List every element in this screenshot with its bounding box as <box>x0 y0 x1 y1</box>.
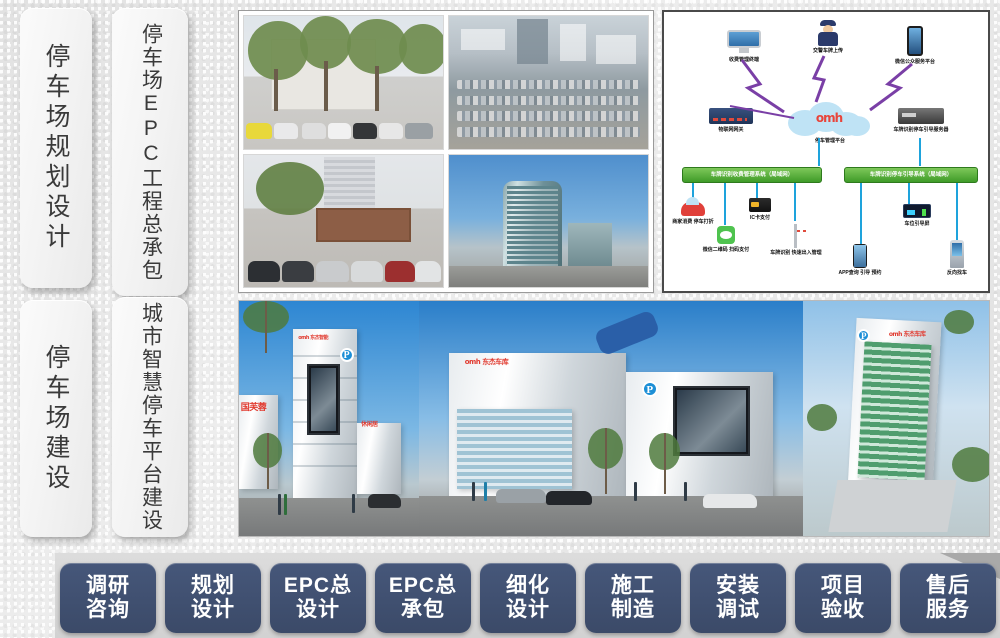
billboard <box>673 386 750 457</box>
process-step-epc-general-contracting[interactable]: EPC总 承包 <box>375 563 471 633</box>
sidebar-card-label: 停车场EPC工程总承包 <box>137 17 164 288</box>
lifted-car-icon <box>593 309 660 356</box>
system-bar-plate-recognition-guidance: 车牌识别停车引导系统（局域网） <box>844 167 978 183</box>
connector-line <box>794 183 796 221</box>
device-reverse-car-finding: 反向找车 <box>934 240 980 276</box>
ic-card-icon <box>749 198 771 212</box>
sidebar-card-parking-planning-design[interactable]: 停车场规划设计 <box>20 8 92 288</box>
barrier-gate-icon <box>785 222 807 248</box>
billboard <box>307 364 339 435</box>
device-app-query-guidance: APP查询 引导 预约 <box>838 244 882 276</box>
sidebar: 停车场规划设计 停车场EPC工程总承包 停车场建设 城市智慧停车平台建设 <box>0 0 228 560</box>
device-wechat-qr-payment: 微信二维码 扫码支付 <box>700 226 752 253</box>
process-step-after-sales-service[interactable]: 售后 服务 <box>900 563 996 633</box>
parking-system-architecture-diagram: omh 停车管理平台 收费管理终端 交警车牌上传 微信公众服务平台 物联网网关 <box>662 10 990 293</box>
process-step-bar: 调研 咨询 规划 设计 EPC总 设计 EPC总 承包 细化 设计 施工 制造 … <box>60 560 996 636</box>
parking-badge-icon: P <box>642 381 658 397</box>
guidance-screen-icon <box>903 204 931 218</box>
photo-parking-lot-brick-building <box>243 154 444 289</box>
architectural-render-panel: omh 东杰智能 P 国芙蓉 休闲居 omh 东杰车库 P <box>238 300 990 537</box>
mobile-app-icon <box>853 244 867 268</box>
device-label: 车位引导屏 <box>894 221 940 227</box>
top-content-row: omh 停车管理平台 收费管理终端 交警车牌上传 微信公众服务平台 物联网网关 <box>238 10 990 293</box>
red-car-icon <box>681 202 705 216</box>
device-ic-card-payment: IC卡支付 <box>736 198 784 221</box>
sidebar-card-label: 停车场建设 <box>40 338 72 500</box>
photo-glass-office-tower <box>448 154 649 289</box>
render-logo: omh 东杰车库 <box>465 357 509 367</box>
device-parking-guidance-screen: 车位引导屏 <box>894 204 940 227</box>
connector-line <box>860 183 862 245</box>
process-step-construction-manufacturing[interactable]: 施工 制造 <box>585 563 681 633</box>
render-logo: omh 东杰车库 <box>889 329 926 338</box>
connector-line <box>724 183 726 225</box>
device-label: 商家消费 停车打折 <box>670 219 716 225</box>
device-label: 反向找车 <box>934 270 980 276</box>
device-label: IC卡支付 <box>736 215 784 221</box>
device-plate-recognition-gate: 车牌识别 快速出入管理 <box>770 222 822 256</box>
render-sign-right: 休闲居 <box>361 419 378 428</box>
device-label: 车牌识别 快速出入管理 <box>770 250 822 256</box>
system-bar-plate-recognition-toll: 车牌识别收费管理系统（局域网） <box>682 167 822 183</box>
photo-street-parking-lot-with-trees <box>243 15 444 150</box>
sidebar-card-parking-epc-contracting[interactable]: 停车场EPC工程总承包 <box>112 8 188 296</box>
render-tower-parking-garage: omh 东杰智能 P 国芙蓉 休闲居 <box>239 301 419 536</box>
photo-aerial-parking-lot <box>448 15 649 150</box>
parking-badge-icon: P <box>340 348 354 362</box>
sidebar-card-parking-construction[interactable]: 停车场建设 <box>20 300 92 537</box>
sidebar-card-label: 城市智慧停车平台建设 <box>137 297 164 537</box>
process-step-installation-commissioning[interactable]: 安装 调试 <box>690 563 786 633</box>
render-mid-rise-parking-garage: omh 东杰车库 P <box>419 301 804 536</box>
process-step-project-acceptance[interactable]: 项目 验收 <box>795 563 891 633</box>
render-sign-left: 国芙蓉 <box>241 400 267 413</box>
sidebar-card-smart-parking-platform[interactable]: 城市智慧停车平台建设 <box>112 297 188 537</box>
process-step-research-consulting[interactable]: 调研 咨询 <box>60 563 156 633</box>
render-aerial-tower-garage: omh 东杰车库 P <box>803 301 989 536</box>
connector-line <box>956 183 958 241</box>
kiosk-icon <box>950 240 964 268</box>
process-step-epc-general-design[interactable]: EPC总 设计 <box>270 563 366 633</box>
device-merchant-discount: 商家消费 停车打折 <box>670 202 716 225</box>
wechat-icon <box>717 226 735 244</box>
process-step-planning-design[interactable]: 规划 设计 <box>165 563 261 633</box>
photo-gallery-panel <box>238 10 654 293</box>
sidebar-card-label: 停车场规划设计 <box>40 37 72 259</box>
render-logo: omh 东杰智能 <box>298 334 328 341</box>
device-label: 微信二维码 扫码支付 <box>700 247 752 253</box>
device-label: APP查询 引导 预约 <box>838 270 882 276</box>
process-step-detailed-design[interactable]: 细化 设计 <box>480 563 576 633</box>
